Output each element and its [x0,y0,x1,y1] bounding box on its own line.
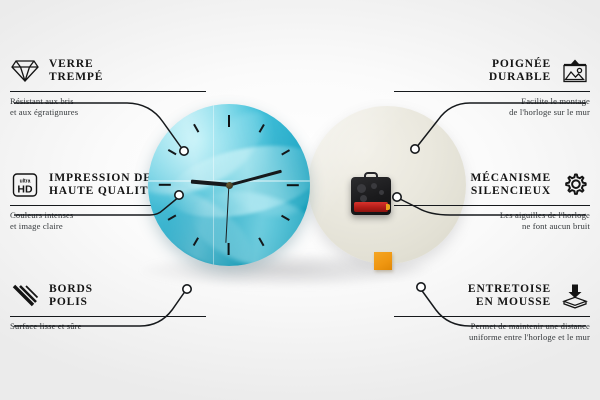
feature-header: MÉCANISME SILENCIEUX [394,170,590,200]
feature-title: ENTRETOISE EN MOUSSE [468,283,551,310]
feature-title: POIGNÉE DURABLE [489,58,551,85]
feature-description: Résistant aux bris et aux égratignures [10,96,206,117]
clock-tick [229,184,301,186]
clock-mechanism [351,177,391,215]
diamond-icon [10,56,40,86]
feature-entretoise-en-mousse: ENTRETOISE EN MOUSSE Permet de maintenir… [394,281,590,343]
feature-divider [394,91,590,92]
mechanism-dial-4 [360,195,367,202]
foam-spacer-icon [560,281,590,311]
feature-header: ENTRETOISE EN MOUSSE [394,281,590,311]
infographic-stage: VERRE TREMPÉ Résistant aux bris et aux é… [0,0,600,400]
feature-description: Permet de maintenir une distance uniform… [394,321,590,342]
battery [354,202,388,212]
feature-header: BORDS POLIS [10,281,206,311]
feature-description: Surface lisse et sûre [10,321,206,332]
feature-title: VERRE TREMPÉ [49,58,103,85]
clock-front-face [148,104,310,266]
feature-description: Les aiguilles de l'horloge ne font aucun… [394,210,590,231]
feature-verre-trempe: VERRE TREMPÉ Résistant aux bris et aux é… [10,56,206,118]
mechanism-dial-2 [371,183,377,189]
ultra-hd-icon: ultra HD [10,170,40,200]
feature-poignee-durable: POIGNÉE DURABLE Facilite le montage de l… [394,56,590,118]
feature-title: IMPRESSION DE HAUTE QUALITÉ [49,172,157,199]
feature-divider [394,205,590,206]
feature-bords-polis: BORDS POLIS Surface lisse et sûre [10,281,206,332]
gear-icon [560,170,590,200]
feature-mecanisme-silencieux: MÉCANISME SILENCIEUX Les aiguilles de l'… [394,170,590,232]
feature-title: MÉCANISME SILENCIEUX [471,172,552,199]
wall-hanger-icon [560,56,590,86]
feature-divider [10,91,206,92]
feature-header: POIGNÉE DURABLE [394,56,590,86]
feature-title: BORDS POLIS [49,283,93,310]
foam-spacer-sample [374,252,392,270]
clock-tick [166,184,229,221]
ultra-hd-main-label: HD [17,184,33,196]
clock-tick [228,113,230,185]
clock-center-cap [226,182,233,189]
mechanism-hanger-lug [364,172,378,180]
mechanism-dial-3 [379,190,384,195]
mechanism-dial-1 [357,184,366,193]
feature-divider [10,316,206,317]
polished-edges-icon [10,281,40,311]
feature-divider [394,316,590,317]
feature-description: Facilite le montage de l'horloge sur le … [394,96,590,117]
feature-header: VERRE TREMPÉ [10,56,206,86]
